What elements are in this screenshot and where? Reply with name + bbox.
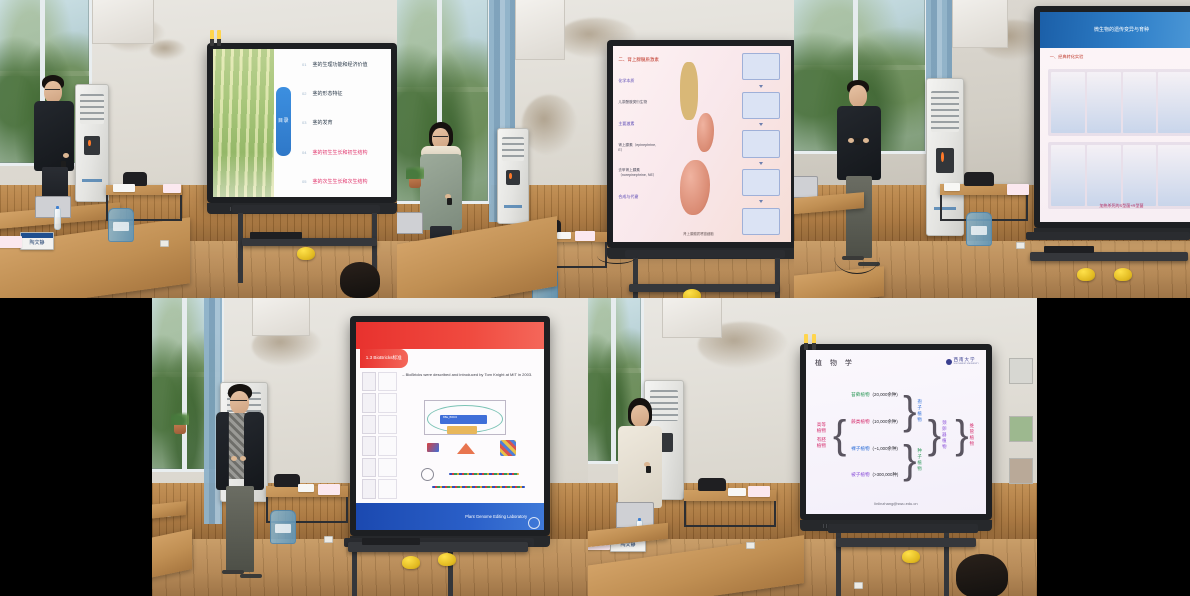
slide-ribbon-label: 目录: [276, 87, 291, 155]
slide-table-of-contents: 目录 01 茎的生理功能和经济价值 02 茎的形态特征: [213, 49, 391, 197]
ribbon-text: 目录: [278, 119, 289, 125]
yellow-helmet: [438, 553, 456, 566]
stand-leg: [352, 547, 357, 596]
shoe: [240, 574, 262, 578]
nameplate: 陶文静: [20, 232, 54, 250]
slide-body-text: – BioBricks were described and introduce…: [402, 372, 538, 378]
stand-leg: [238, 213, 243, 283]
cooler-label: [971, 226, 987, 236]
wall-stain: [522, 95, 577, 155]
pyramid-icon: [457, 443, 475, 454]
slide-heading: 化学本质: [618, 78, 661, 84]
hand: [863, 138, 869, 143]
brace-icon: }: [903, 448, 916, 472]
whiteboard-stand: [625, 250, 785, 258]
cable: [834, 240, 880, 274]
table-cell: [362, 372, 376, 391]
toc-number: 05: [302, 179, 306, 184]
keyboard[interactable]: [250, 232, 302, 239]
slide-photo: [213, 49, 274, 197]
presentation-clicker[interactable]: [447, 198, 452, 205]
whiteboard-screen[interactable]: 植 物 学 西南大学 SOUTHWEST UNIVERSITY 高等植物: [806, 350, 986, 514]
slide-body-area: – BioBricks were described and introduce…: [362, 372, 539, 499]
interactive-whiteboard-5[interactable]: 植 物 学 西南大学 SOUTHWEST UNIVERSITY 高等植物: [800, 344, 992, 520]
toc-label: 茎的次生生长和次生结构: [312, 178, 367, 185]
water-bottle[interactable]: [54, 208, 61, 230]
table-row: [362, 415, 397, 434]
plant-leaves: [406, 166, 424, 179]
brace-icon: }: [928, 423, 941, 447]
cable: [597, 248, 637, 264]
test-tube: [1051, 145, 1085, 207]
toc-number: 03: [302, 120, 306, 125]
power-outlet: [160, 240, 169, 247]
ac-control-panel: [506, 170, 520, 185]
table-cell: [378, 393, 397, 412]
molecule-box: [742, 169, 780, 196]
white-paper: [298, 484, 314, 492]
toc-label: 茎的形态特征: [312, 90, 342, 97]
table-row: [362, 436, 397, 455]
pink-paper: [1007, 184, 1029, 195]
slide-botany: 植 物 学 西南大学 SOUTHWEST UNIVERSITY 高等植物: [806, 350, 986, 514]
wall-photo-frame: [1009, 358, 1033, 384]
slide-transformation-experiment: 微生物的遗传变异与育种 一、经典转化实验: [1040, 12, 1190, 222]
collage-panel-4[interactable]: 1.3 BioBricks标准 – BioBri: [152, 298, 588, 596]
glasses-icon: [45, 89, 60, 91]
classification-diagram: 高等植物 有胚植物 { 苔藓植物 (20,000余种) 蕨类植物: [817, 386, 975, 484]
hand: [63, 153, 69, 158]
experiment-caption: 加热杀死的S型菌+R型菌: [1048, 203, 1190, 209]
marker-pen[interactable]: [217, 30, 221, 46]
slide-footer-text: Plant Genome Editing Laboratory: [465, 514, 527, 519]
air-conditioner: [497, 128, 529, 224]
table-cell: [362, 393, 376, 412]
slide-header: 微生物的遗传变异与育种: [1040, 12, 1190, 48]
yellow-helmet: [402, 556, 420, 569]
group-label: 维管植物: [970, 423, 976, 447]
stand-tray: [1030, 252, 1188, 261]
toc-item: 05 茎的次生生长和次生结构: [302, 178, 384, 185]
taxon-count: (>300,000种): [873, 472, 899, 478]
logo-mark-icon: [946, 359, 952, 365]
test-tube: [1087, 145, 1121, 207]
keyboard[interactable]: [1044, 246, 1094, 253]
whiteboard-stand: [1026, 232, 1190, 240]
toc-label: 茎的发育: [312, 119, 332, 126]
toc-number: 01: [302, 62, 306, 67]
kidney-shape: [697, 113, 714, 152]
slide-text-column: 二、肾上腺髓质激素 化学本质 儿茶酚胺类衍生物 主要激素 肾上腺素（epinep…: [613, 46, 666, 242]
ceiling-duct: [515, 0, 565, 60]
table-row: [362, 479, 397, 498]
left-label: 有胚植物: [817, 437, 829, 449]
anatomy-illustration: 肾上腺髓质嗜铬细胞: [666, 46, 730, 242]
pink-paper: [0, 236, 22, 248]
marker-pen[interactable]: [210, 30, 214, 46]
university-seal-icon: [528, 517, 540, 529]
pink-paper: [748, 486, 770, 497]
table-cell: [378, 436, 397, 455]
pathway-column: [730, 46, 791, 242]
stand-tray: [629, 284, 779, 292]
ceiling-duct: [92, 0, 154, 44]
whiteboard-stand: [828, 524, 978, 533]
potted-plant: [174, 424, 186, 434]
glasses-icon: [433, 136, 448, 138]
marker-pen[interactable]: [804, 334, 808, 350]
slide-header-text: 微生物的遗传变异与育种: [1094, 26, 1149, 33]
toc-item: 02 茎的形态特征: [302, 90, 384, 97]
taxon-row: 苔藓植物 (20,000余种): [851, 392, 898, 398]
white-paper: [944, 183, 960, 191]
table-row: [362, 458, 397, 477]
slide-biobricks: 1.3 BioBricks标准 – BioBri: [356, 322, 544, 530]
bottle-cap: [56, 206, 59, 209]
molecule-box: [742, 92, 780, 119]
interactive-whiteboard-2[interactable]: 二、肾上腺髓质激素 化学本质 儿茶酚胺类衍生物 主要激素 肾上腺素（epinep…: [607, 40, 794, 248]
toc-number: 04: [302, 150, 306, 155]
group-label: 孢子植物: [917, 399, 923, 423]
head: [230, 391, 249, 414]
photo-collage: 目录 01 茎的生理功能和经济价值 02 茎的形态特征: [0, 0, 1190, 596]
white-paper: [728, 488, 746, 496]
water-cooler: [108, 208, 134, 242]
test-tube: [1051, 72, 1085, 134]
laptop-lid[interactable]: [35, 196, 71, 218]
taxon-row: 蕨类植物 (10,000余种): [851, 419, 898, 425]
brace-icon: }: [955, 423, 968, 447]
stand-leg: [775, 258, 780, 298]
experiment-row-2: 加热杀死的S型菌+R型菌: [1048, 142, 1190, 210]
left-labels: 高等植物 有胚植物: [817, 422, 829, 449]
taxon-name: 苔藓植物: [851, 392, 869, 398]
table-cell: [378, 458, 397, 477]
hand: [231, 456, 237, 461]
whiteboard-stand: [232, 205, 380, 213]
toc-list: 01 茎的生理功能和经济价值 02 茎的形态特征 03: [302, 61, 384, 184]
power-outlet: [854, 582, 863, 589]
slide-heading: 合成与代谢: [618, 194, 661, 200]
whiteboard-screen[interactable]: 目录 01 茎的生理功能和经济价值 02 茎的形态特征: [213, 49, 391, 197]
power-outlet: [746, 542, 755, 549]
plasmid-label: BBa_B0034: [443, 416, 457, 419]
molecule-box: [742, 208, 780, 235]
presentation-clicker[interactable]: [646, 466, 651, 473]
bottle-cap: [638, 518, 641, 521]
interactive-whiteboard-3[interactable]: 微生物的遗传变异与育种 一、经典转化实验: [1034, 6, 1190, 228]
ceiling-duct: [952, 0, 1008, 48]
toc-item: 04 茎的初生生长和初生结构: [302, 149, 384, 156]
test-tube: [1158, 145, 1190, 207]
toc-number: 02: [302, 91, 306, 96]
marker-pen[interactable]: [812, 334, 816, 350]
camera-bag: [698, 478, 726, 491]
dna-strand: [449, 473, 520, 475]
table-cell: [362, 415, 376, 434]
nameplate-bar: [21, 233, 53, 238]
interactive-whiteboard-1[interactable]: 目录 01 茎的生理功能和经济价值 02 茎的形态特征: [207, 43, 397, 203]
toc-label: 茎的生理功能和经济价值: [312, 61, 367, 68]
potted-plant: [409, 178, 421, 188]
interactive-whiteboard-4[interactable]: 1.3 BioBricks标准 – BioBri: [350, 316, 550, 536]
wall-stain: [150, 40, 186, 60]
table-cell: [378, 415, 397, 434]
nameplate-text: 陶文静: [29, 239, 44, 246]
taxon-count: (~1,000余种): [873, 446, 898, 452]
camera-bag: [274, 474, 300, 487]
power-outlet: [324, 536, 333, 543]
plant-leaves: [171, 412, 189, 425]
biobrick-backbone: [447, 426, 477, 434]
table-cell: [362, 458, 376, 477]
university-logo: 西南大学 SOUTHWEST UNIVERSITY: [946, 358, 979, 365]
audience-head: [340, 262, 380, 298]
laptop-lid[interactable]: [397, 212, 423, 234]
slide-subtitle: 一、经典转化实验: [1050, 54, 1084, 60]
experiment-grid: 加热杀死的S型菌+R型菌: [1048, 69, 1190, 210]
toc-item: 01 茎的生理功能和经济价值: [302, 61, 384, 68]
down-coat: [420, 154, 462, 230]
arrow-down-icon: [759, 123, 763, 126]
jacket: [244, 412, 264, 490]
test-tube: [1123, 72, 1157, 134]
logo-name-en: SOUTHWEST UNIVERSITY: [954, 363, 979, 365]
table-frame: [684, 501, 776, 527]
taxon-name: 被子植物: [851, 472, 869, 478]
slide-adrenal-medulla: 二、肾上腺髓质激素 化学本质 儿茶酚胺类衍生物 主要激素 肾上腺素（epinep…: [613, 46, 791, 242]
anatomy-caption: 肾上腺髓质嗜铬细胞: [666, 231, 730, 236]
contact-email: linlinzhang@swu.edu.cn: [806, 501, 986, 506]
keyboard[interactable]: [362, 538, 420, 545]
slide-heading: 主要激素: [618, 121, 661, 127]
collage-panel-5[interactable]: 植 物 学 西南大学 SOUTHWEST UNIVERSITY 高等植物: [588, 298, 1037, 596]
brace-icon: }: [903, 399, 916, 423]
pink-paper: [575, 231, 595, 241]
slide-body: 去甲肾上腺素（norepinephrine, NE）: [618, 168, 661, 178]
pink-paper: [318, 484, 340, 495]
cartoon-face-icon: [421, 468, 434, 481]
power-outlet: [1016, 242, 1025, 249]
camera-bag: [964, 172, 994, 186]
taxon-row: 被子植物 (>300,000种): [851, 472, 898, 478]
classroom-scene-4: 1.3 BioBricks标准 – BioBri: [152, 298, 588, 596]
taxon-count: (20,000余种): [873, 392, 898, 398]
duct-shape: [680, 62, 698, 121]
standard-parts-table: [362, 372, 397, 499]
head: [44, 81, 62, 103]
yellow-helmet: [1077, 268, 1095, 281]
brace-icon: {: [833, 423, 846, 447]
collage-panel-3[interactable]: 微生物的遗传变异与育种 一、经典转化实验: [794, 0, 1190, 298]
fleece-jacket: [618, 426, 662, 508]
ac-led-icon: [509, 173, 511, 179]
whiteboard-screen[interactable]: 微生物的遗传变异与育种 一、经典转化实验: [1040, 12, 1190, 222]
water-cooler: [966, 212, 992, 246]
ac-vents: [502, 137, 525, 161]
table-cell: [378, 372, 397, 391]
group-label: 颈卵器植物: [942, 420, 950, 450]
cooler-label: [113, 222, 129, 232]
toc-item: 03 茎的发育: [302, 119, 384, 126]
test-tube: [1158, 72, 1190, 134]
ceiling-duct: [662, 298, 722, 338]
arrow-down-icon: [759, 85, 763, 88]
left-label: 高等植物: [817, 422, 829, 434]
collage-panel-1[interactable]: 目录 01 茎的生理功能和经济价值 02 茎的形态特征: [0, 0, 397, 298]
molecule-box: [742, 130, 780, 157]
yellow-helmet: [297, 247, 315, 260]
whiteboard-screen[interactable]: 二、肾上腺髓质激素 化学本质 儿茶酚胺类衍生物 主要激素 肾上腺素（epinep…: [613, 46, 791, 242]
classroom-scene-3: 微生物的遗传变异与育种 一、经典转化实验: [794, 0, 1190, 298]
stand-tray: [242, 238, 377, 246]
head: [849, 85, 867, 107]
taxon-name: 裸子植物: [851, 446, 869, 452]
toc-label: 茎的初生生长和初生结构: [312, 149, 367, 156]
cooler-label: [275, 524, 291, 534]
wall-photo-frame: [1009, 416, 1033, 442]
ac-brand-stripe: [504, 205, 522, 208]
taxon-count: (10,000余种): [873, 419, 898, 425]
lego-brick-icon: [427, 443, 439, 452]
slide-title: 植 物 学: [815, 358, 855, 368]
white-paper: [557, 232, 571, 239]
arrow-down-icon: [759, 162, 763, 165]
jacket: [34, 101, 74, 171]
table-cell: [378, 479, 397, 498]
yellow-helmet: [902, 550, 920, 563]
molecule-box: [742, 53, 780, 80]
yellow-helmet: [1114, 268, 1132, 281]
taxon-name: 蕨类植物: [851, 419, 869, 425]
gift-box-icon: [500, 440, 516, 456]
water-cooler: [270, 510, 296, 544]
slide-main-content: – BioBricks were described and introduce…: [402, 372, 538, 499]
table-cell: [362, 479, 376, 498]
wall-photo-frame: [1009, 458, 1033, 484]
presentation-clicker[interactable]: [855, 138, 860, 145]
ac-control-panel: [936, 148, 953, 173]
slide-header-band: [356, 322, 544, 349]
glasses-icon: [230, 400, 247, 402]
slide-title: 1.3 BioBricks标准: [360, 349, 408, 368]
adrenal-gland-shape: [680, 160, 709, 215]
stand-tray: [836, 538, 976, 547]
whiteboard-screen[interactable]: 1.3 BioBricks标准 – BioBri: [356, 322, 544, 530]
legs: [226, 486, 254, 572]
head: [631, 405, 649, 427]
dna-strand: [432, 486, 525, 488]
slide-footer: Plant Genome Editing Laboratory: [356, 503, 544, 530]
group-label: 种子植物: [917, 448, 923, 472]
yellow-helmet: [683, 289, 701, 298]
experiment-row-1: [1048, 69, 1190, 137]
pink-paper: [163, 184, 181, 193]
audience-head: [956, 554, 1008, 596]
hand: [848, 138, 854, 143]
slide-body: 肾上腺素（epinephrine, E）: [618, 143, 661, 153]
table-row: [362, 393, 397, 412]
laptop-lid[interactable]: [794, 176, 818, 198]
ceiling-duct: [252, 298, 310, 336]
test-tube: [1123, 145, 1157, 207]
table-row: [362, 372, 397, 391]
taxon-rows: 苔藓植物 (20,000余种) 蕨类植物 (10,000余种) 裸子植物 (~1…: [851, 386, 898, 484]
stand-leg: [633, 258, 638, 298]
ac-vents: [931, 91, 958, 132]
slide-body: 儿茶酚胺类衍生物: [618, 100, 661, 105]
hand: [240, 456, 246, 461]
classroom-scene-1: 目录 01 茎的生理功能和经济价值 02 茎的形态特征: [0, 0, 397, 298]
classroom-scene-2: 二、肾上腺髓质激素 化学本质 儿茶酚胺类衍生物 主要激素 肾上腺素（epinep…: [397, 0, 794, 298]
classroom-scene-5: 植 物 学 西南大学 SOUTHWEST UNIVERSITY 高等植物: [588, 298, 1037, 596]
presenter-male-1: [30, 75, 90, 210]
ac-led-icon: [941, 152, 944, 161]
arrow-down-icon: [759, 200, 763, 203]
white-paper: [113, 184, 135, 192]
test-tube: [1087, 72, 1121, 134]
collage-panel-2[interactable]: 二、肾上腺髓质激素 化学本质 儿茶酚胺类衍生物 主要激素 肾上腺素（epinep…: [397, 0, 794, 298]
slide-title: 二、肾上腺髓质激素: [618, 57, 661, 63]
table-cell: [362, 436, 376, 455]
taxon-row: 裸子植物 (~1,000余种): [851, 446, 898, 452]
